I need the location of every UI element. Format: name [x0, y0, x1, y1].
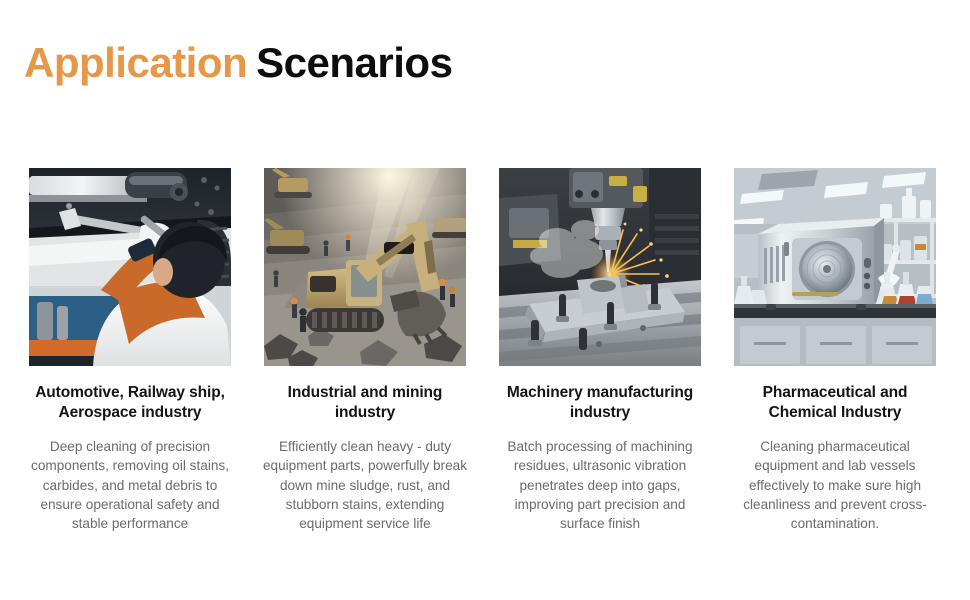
- card-heading: Automotive, Railway ship, Aerospace indu…: [30, 383, 230, 424]
- cnc-machining-sparks-photo: [499, 168, 701, 366]
- card-heading: Pharmaceutical and Chemical Industry: [735, 383, 935, 424]
- application-scenario-cards: Automotive, Railway ship, Aerospace indu…: [29, 168, 944, 533]
- card-body-text: Efficiently clean heavy - duty equipment…: [262, 437, 468, 533]
- card-heading: Machinery manufacturing industry: [500, 383, 700, 424]
- card-body-text: Batch processing of machining residues, …: [497, 437, 703, 533]
- scenario-card: Automotive, Railway ship, Aerospace indu…: [29, 168, 231, 533]
- scenario-card: Pharmaceutical and Chemical Industry Cle…: [734, 168, 936, 533]
- automotive-mechanic-under-vehicle-photo: [29, 168, 231, 366]
- card-body-text: Deep cleaning of precision components, r…: [27, 437, 233, 533]
- mining-excavator-quarry-photo: [264, 168, 466, 366]
- scenario-card: Industrial and mining industry Efficient…: [264, 168, 466, 533]
- page-title: ApplicationScenarios: [24, 40, 452, 86]
- card-heading: Industrial and mining industry: [265, 383, 465, 424]
- page-title-main-word: Scenarios: [256, 39, 452, 86]
- laboratory-autoclave-sterilizer-photo: [734, 168, 936, 366]
- card-body-text: Cleaning pharmaceutical equipment and la…: [732, 437, 938, 533]
- scenario-card: Machinery manufacturing industry Batch p…: [499, 168, 701, 533]
- page-title-accent-word: Application: [24, 39, 247, 86]
